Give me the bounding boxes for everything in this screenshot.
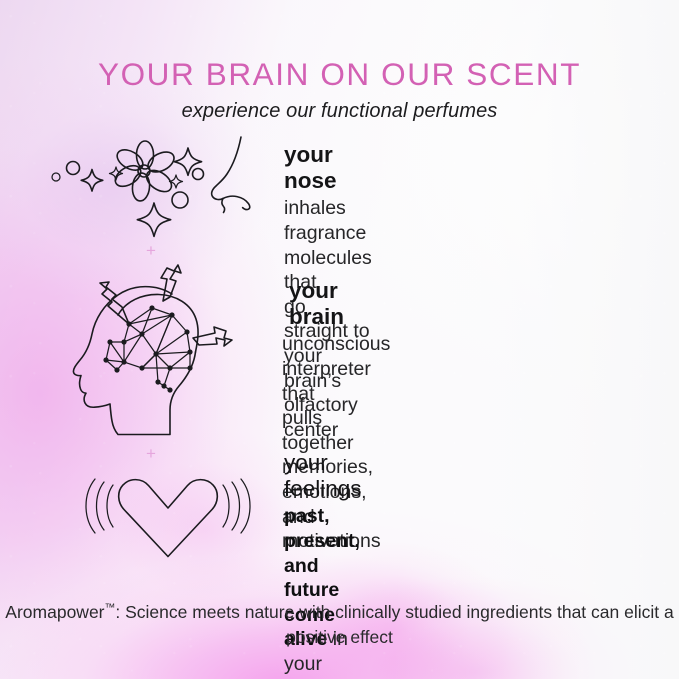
nose-profile-icon — [212, 137, 250, 213]
heart-vibration-icon — [80, 468, 265, 568]
your-brain-heading: your brain — [282, 278, 390, 330]
lightning-bolt-icon — [161, 265, 181, 301]
bubble-icon — [67, 162, 80, 175]
bubble-icon — [172, 192, 188, 208]
nose-sparkles-flower-icon — [42, 138, 274, 248]
your-nose-heading: your nose — [284, 142, 372, 194]
heart-shape — [119, 480, 218, 557]
head-brain-network-icon — [60, 270, 240, 435]
page-title: YOUR BRAIN ON OUR SCENT — [0, 56, 679, 93]
sparkle-icon — [110, 167, 123, 180]
plus-separator-2: + — [146, 445, 156, 462]
your-feelings-heading: your feelings — [284, 450, 370, 502]
page-subtitle: experience our functional perfumes — [0, 100, 679, 123]
bubble-icon — [52, 173, 60, 181]
infographic-poster: YOUR BRAIN ON OUR SCENT experience our f… — [0, 0, 679, 679]
body-line: unconscious interpreter that — [282, 333, 390, 404]
brain-network-edges — [106, 308, 190, 390]
footer-text: : Science meets nature with clinically s… — [115, 602, 673, 647]
plus-separator-1: + — [146, 242, 156, 259]
footer-note: Aromapower™: Science meets nature with c… — [0, 600, 679, 650]
bubble-icon — [193, 169, 204, 180]
poster-content: YOUR BRAIN ON OUR SCENT experience our f… — [0, 0, 679, 679]
lightning-bolt-icon — [193, 327, 232, 346]
trademark-symbol: ™ — [105, 602, 116, 614]
lightning-bolt-icon — [100, 282, 129, 324]
footer-brand: Aromapower — [5, 602, 104, 622]
sparkle-icon — [174, 148, 201, 175]
your-feelings-body: past, present, and future come alive in … — [284, 504, 370, 679]
sparkle-icon — [81, 170, 103, 192]
sparkle-icon — [137, 203, 170, 236]
vibration-arcs-left — [86, 479, 113, 533]
head-profile-icon — [73, 287, 195, 435]
vibration-arcs-right — [223, 479, 250, 533]
flower-icon — [112, 141, 178, 202]
